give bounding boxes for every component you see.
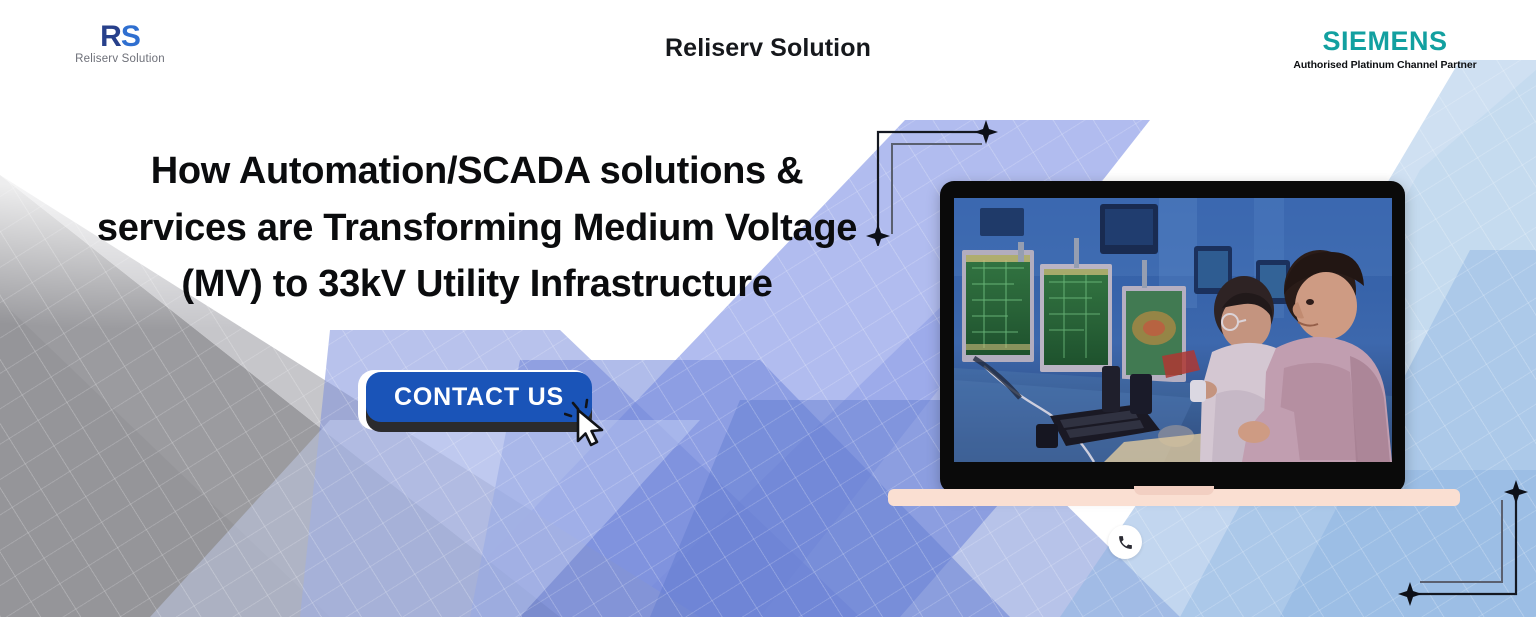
siemens-partner-logo: SIEMENS Authorised Platinum Channel Part… — [1290, 28, 1480, 71]
laptop-screen — [954, 198, 1392, 462]
laptop-device — [888, 181, 1460, 506]
siemens-brand-text: SIEMENS — [1290, 28, 1480, 55]
headline: How Automation/SCADA solutions & service… — [82, 143, 872, 312]
mouse-pointer-icon — [564, 398, 616, 450]
phone-icon — [1117, 534, 1134, 551]
phone-badge[interactable] — [1108, 525, 1142, 559]
promotional-banner: RS Reliserv Solution Reliserv Solution S… — [0, 0, 1536, 617]
contact-us-button[interactable]: CONTACT US — [366, 372, 592, 422]
siemens-partner-tagline: Authorised Platinum Channel Partner — [1290, 59, 1480, 71]
cta-group: CONTACT US — [358, 370, 598, 440]
laptop-base-notch — [1134, 486, 1214, 495]
